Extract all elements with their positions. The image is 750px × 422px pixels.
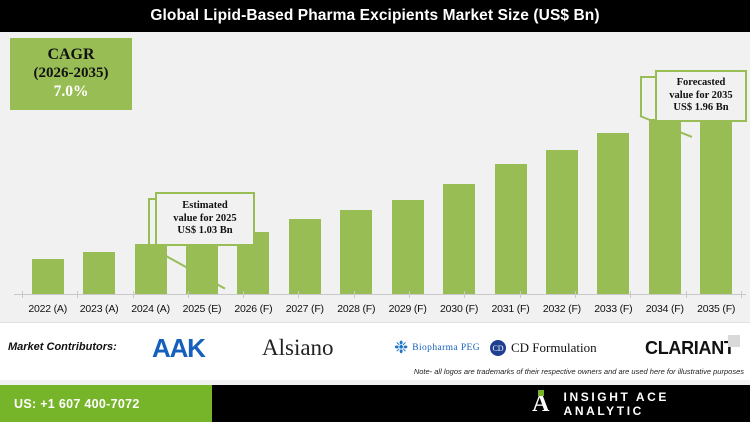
x-tick (464, 291, 465, 298)
callout-2025-line2: value for 2025 (173, 213, 236, 226)
callout-estimated-2025: Estimated value for 2025 US$ 1.03 Bn (155, 192, 255, 246)
bar-slot (176, 32, 227, 294)
bar-slot (73, 32, 124, 294)
x-tick (243, 291, 244, 298)
logo-aak: AAK (152, 333, 205, 363)
x-tick (741, 291, 742, 298)
bar-2032[interactable] (546, 150, 578, 294)
callout-2025-line3: US$ 1.03 Bn (177, 225, 232, 238)
x-label-2025: 2025 (E) (176, 303, 227, 315)
footer: US: +1 607 400-7072 A INSIGHT ACE ANALYT… (0, 385, 750, 422)
x-label-2022: 2022 (A) (22, 303, 73, 315)
x-tick (520, 291, 521, 298)
callout-forecasted-2035: Forecasted value for 2035 US$ 1.96 Bn (655, 70, 747, 122)
bar-slot (536, 32, 587, 294)
x-label-2031: 2031 (F) (485, 303, 536, 315)
bar-2022[interactable] (32, 259, 64, 294)
logo-biopharma-peg-text: Biopharma PEG (412, 343, 480, 353)
x-label-2035: 2035 (F) (690, 303, 741, 315)
x-tick (188, 291, 189, 298)
infographic-page: Global Lipid-Based Pharma Excipients Mar… (0, 0, 750, 422)
bar-2023[interactable] (83, 252, 115, 294)
x-tick (22, 291, 23, 298)
x-tick (575, 291, 576, 298)
callout-2035-line3: US$ 1.96 Bn (673, 102, 728, 115)
x-label-2029: 2029 (F) (382, 303, 433, 315)
bar-slot (331, 32, 382, 294)
logo-cd-formulation: CD CD Formulation (490, 333, 597, 363)
x-label-2024: 2024 (A) (125, 303, 176, 315)
x-tick (686, 291, 687, 298)
bar-2029[interactable] (392, 200, 424, 294)
bar-2033[interactable] (597, 133, 629, 294)
x-tick (133, 291, 134, 298)
bar-2035[interactable] (700, 97, 732, 294)
footer-phone-block: US: +1 607 400-7072 (0, 385, 212, 422)
bar-2027[interactable] (289, 219, 321, 294)
x-label-2030: 2030 (F) (433, 303, 484, 315)
page-title: Global Lipid-Based Pharma Excipients Mar… (150, 7, 599, 25)
footer-phone: US: +1 607 400-7072 (14, 397, 140, 411)
bar-slot (228, 32, 279, 294)
brand-name: INSIGHT ACE ANALYTIC (564, 390, 750, 418)
logo-clariant: CLARIANT (645, 333, 735, 363)
x-label-2027: 2027 (F) (279, 303, 330, 315)
chart-area: CAGR (2026-2035) 7.0% 2022 (A)2023 (A)20… (0, 32, 750, 322)
logo-alsiano: Alsiano (262, 333, 334, 363)
callout-2025-leader-vertical (148, 198, 150, 246)
x-axis-ticks (22, 291, 742, 298)
bar-slot (382, 32, 433, 294)
callout-2035-leader-vertical (640, 76, 642, 116)
bar-2025[interactable] (186, 240, 218, 294)
bar-slot (279, 32, 330, 294)
biopharma-peg-icon: ❉ (394, 338, 408, 358)
trademark-note: Note- all logos are trademarks of their … (414, 367, 744, 376)
x-label-2032: 2032 (F) (536, 303, 587, 315)
x-tick (298, 291, 299, 298)
brand-dot-icon (538, 390, 544, 396)
x-tick (409, 291, 410, 298)
market-contributors-strip: Market Contributors: AAK Alsiano ❉ Bioph… (0, 322, 750, 380)
cd-formulation-icon: CD (490, 340, 506, 356)
x-axis-labels: 2022 (A)2023 (A)2024 (A)2025 (E)2026 (F)… (22, 298, 742, 320)
contributors-label: Market Contributors: (8, 341, 117, 353)
bar-2030[interactable] (443, 184, 475, 294)
x-tick (630, 291, 631, 298)
bar-slot (588, 32, 639, 294)
bar-slot (485, 32, 536, 294)
x-label-2026: 2026 (F) (228, 303, 279, 315)
bar-2034[interactable] (649, 119, 681, 294)
x-label-2023: 2023 (A) (73, 303, 124, 315)
x-tick (354, 291, 355, 298)
x-label-2028: 2028 (F) (331, 303, 382, 315)
x-label-2034: 2034 (F) (639, 303, 690, 315)
logo-cd-formulation-text: CD Formulation (511, 340, 597, 356)
callout-2035-line1: Forecasted (677, 77, 726, 90)
callout-2025-line1: Estimated (182, 200, 228, 213)
bar-slot (433, 32, 484, 294)
bar-2031[interactable] (495, 164, 527, 294)
bar-slot (22, 32, 73, 294)
clariant-square-icon (728, 335, 740, 347)
bar-slot (125, 32, 176, 294)
bar-series (22, 32, 742, 294)
logo-biopharma-peg: ❉ Biopharma PEG (394, 333, 480, 363)
brand-logo-icon: A (532, 392, 550, 416)
bar-2028[interactable] (340, 210, 372, 294)
callout-2035-leader-top (640, 76, 656, 78)
callout-2035-line2: value for 2035 (669, 90, 732, 103)
footer-brand-block: A INSIGHT ACE ANALYTIC (212, 385, 750, 422)
x-tick (77, 291, 78, 298)
plot-region (22, 32, 742, 294)
title-bar: Global Lipid-Based Pharma Excipients Mar… (0, 0, 750, 32)
x-label-2033: 2033 (F) (588, 303, 639, 315)
